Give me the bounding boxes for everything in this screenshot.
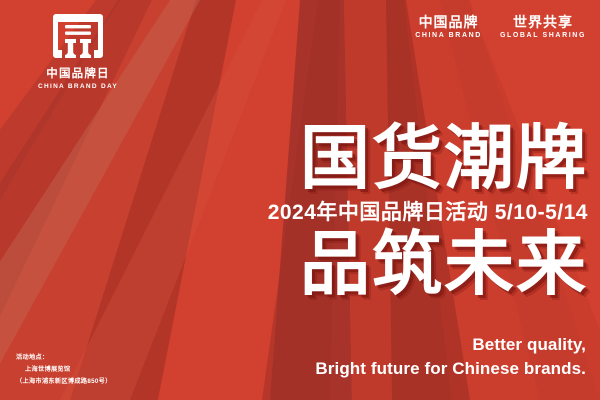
poster-canvas: 中国品牌日 CHINA BRAND DAY 中国品牌 CHINA BRAND 世…	[0, 0, 600, 400]
venue-info: 活动地点： 上海世博展览馆 （上海市浦东新区博成路850号）	[16, 352, 112, 388]
slogan-cn-global-sharing: 世界共享	[500, 14, 586, 30]
venue-name: 上海世博展览馆	[16, 364, 112, 376]
china-brand-day-emblem-icon	[50, 10, 106, 62]
tagline-line-1: Better quality,	[315, 333, 586, 358]
venue-address: （上海市浦东新区博成路850号）	[16, 376, 112, 388]
top-right-slogan: 中国品牌 CHINA BRAND 世界共享 GLOBAL SHARING	[415, 14, 586, 40]
headline-block: 国货潮牌 2024年中国品牌日活动 5/10-5/14 品筑未来	[168, 124, 588, 299]
english-tagline: Better quality, Bright future for Chines…	[315, 333, 586, 382]
slogan-unit-global-sharing: 世界共享 GLOBAL SHARING	[500, 14, 586, 40]
tagline-line-2: Bright future for Chinese brands.	[315, 357, 586, 382]
headline-line-2: 品筑未来	[168, 230, 588, 299]
slogan-cn-china-brand: 中国品牌	[415, 14, 482, 30]
logo-title-cn: 中国品牌日	[18, 68, 138, 81]
logo-title-en: CHINA BRAND DAY	[18, 83, 138, 90]
slogan-en-global-sharing: GLOBAL SHARING	[500, 32, 586, 40]
slogan-en-china-brand: CHINA BRAND	[415, 32, 482, 40]
brand-logo: 中国品牌日 CHINA BRAND DAY	[18, 10, 138, 90]
slogan-unit-china-brand: 中国品牌 CHINA BRAND	[415, 14, 482, 40]
headline-subtitle: 2024年中国品牌日活动 5/10-5/14	[168, 197, 588, 229]
headline-line-1: 国货潮牌	[168, 124, 588, 193]
venue-label: 活动地点：	[16, 352, 112, 364]
